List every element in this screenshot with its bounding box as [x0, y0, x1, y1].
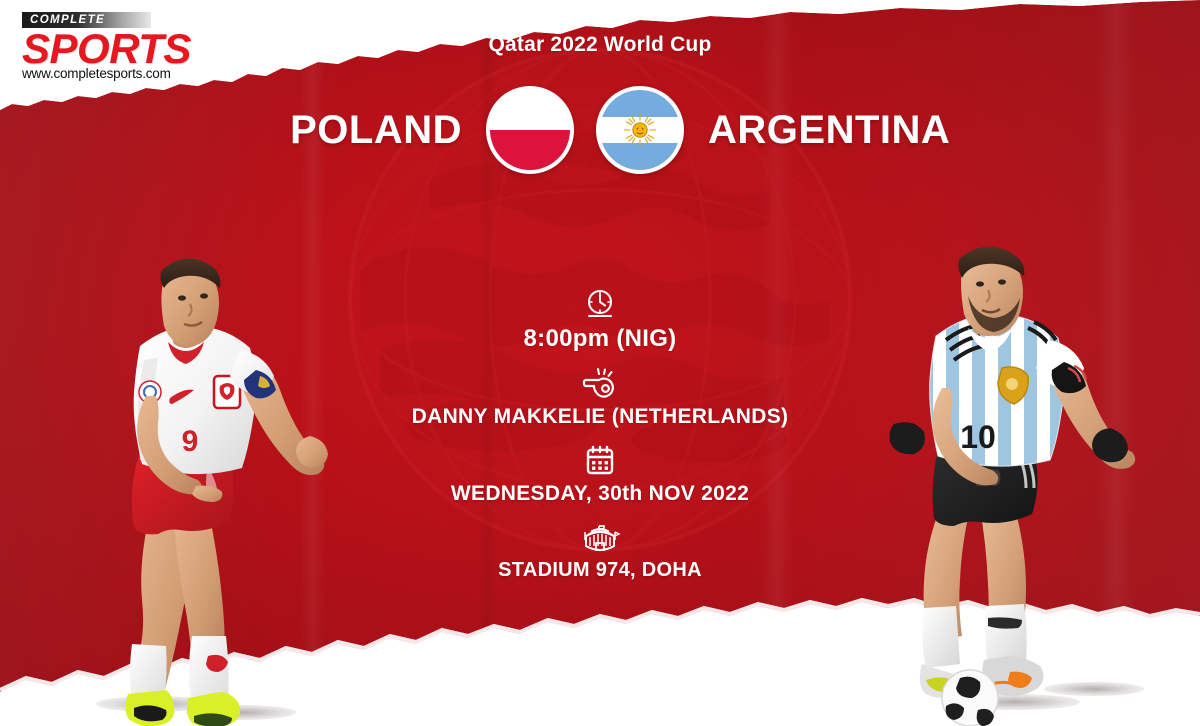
brand-sports-label: SPORTS [22, 29, 187, 69]
poland-flag-red-band [490, 130, 570, 170]
match-referee-text: DANNY MAKKELIE (NETHERLANDS) [0, 406, 1200, 428]
player-shadow [186, 705, 296, 720]
argentina-flag-icon [596, 86, 684, 174]
poland-flag-icon [486, 86, 574, 174]
brand-logo[interactable]: COMPLETE SPORTS www.completesports.com [22, 10, 187, 81]
sun-of-may-icon [623, 113, 657, 147]
poland-flag-white-band [490, 90, 570, 130]
match-venue-row: STADIUM 974, DOHA [0, 522, 1200, 581]
match-time-text: 8:00pm (NIG) [0, 326, 1200, 351]
match-venue-text: STADIUM 974, DOHA [0, 560, 1200, 581]
brand-website-url[interactable]: www.completesports.com [22, 67, 187, 81]
match-time-row: 8:00pm (NIG) [0, 288, 1200, 351]
player-shadow [950, 694, 1080, 710]
teams-row: POLAND [0, 84, 1200, 176]
match-info-list: 8:00pm (NIG) DANNY MAKKELIE (NETHERLANDS… [0, 288, 1200, 581]
player-shadow [1044, 682, 1144, 696]
match-preview-poster: 9 [0, 0, 1200, 726]
argentina-flag-bottom-stripe [600, 143, 680, 170]
match-referee-row: DANNY MAKKELIE (NETHERLANDS) [0, 368, 1200, 428]
calendar-icon [583, 445, 617, 477]
whistle-icon [580, 368, 620, 400]
home-team-name: POLAND [262, 108, 486, 153]
match-date-row: WEDNESDAY, 30th NOV 2022 [0, 445, 1200, 505]
clock-icon [583, 288, 617, 320]
stadium-icon [578, 522, 622, 554]
away-team-name: ARGENTINA [684, 108, 938, 153]
match-date-text: WEDNESDAY, 30th NOV 2022 [0, 483, 1200, 505]
